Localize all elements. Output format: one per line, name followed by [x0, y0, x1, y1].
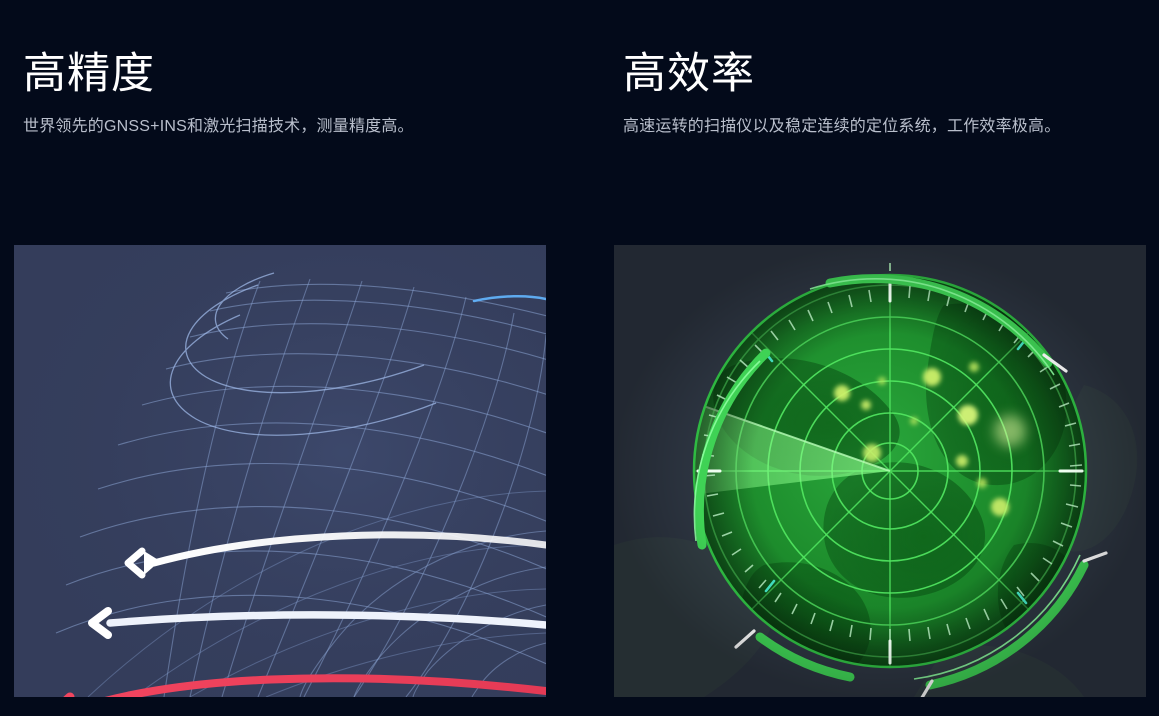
image-efficiency	[614, 245, 1146, 697]
globe-trajectory-illustration	[14, 245, 546, 697]
page-title-efficiency: 高效率	[623, 50, 1153, 99]
feature-column-efficiency: 高效率 高速运转的扫描仪以及稳定连续的定位系统，工作效率极高。	[614, 0, 1159, 716]
radar-scope-illustration	[614, 245, 1146, 697]
subtitle-efficiency: 高速运转的扫描仪以及稳定连续的定位系统，工作效率极高。	[623, 99, 1153, 138]
feature-column-precision: 高精度 世界领先的GNSS+INS和激光扫描技术，测量精度高。	[14, 0, 559, 716]
precision-heading-block: 高精度 世界领先的GNSS+INS和激光扫描技术，测量精度高。	[23, 50, 553, 139]
efficiency-heading-block: 高效率 高速运转的扫描仪以及稳定连续的定位系统，工作效率极高。	[623, 50, 1153, 139]
feature-columns: 高精度 世界领先的GNSS+INS和激光扫描技术，测量精度高。	[0, 0, 1159, 716]
page-root: 高精度 世界领先的GNSS+INS和激光扫描技术，测量精度高。	[0, 0, 1159, 716]
image-precision	[14, 245, 546, 697]
page-title-precision: 高精度	[23, 50, 553, 99]
subtitle-precision: 世界领先的GNSS+INS和激光扫描技术，测量精度高。	[23, 99, 553, 138]
